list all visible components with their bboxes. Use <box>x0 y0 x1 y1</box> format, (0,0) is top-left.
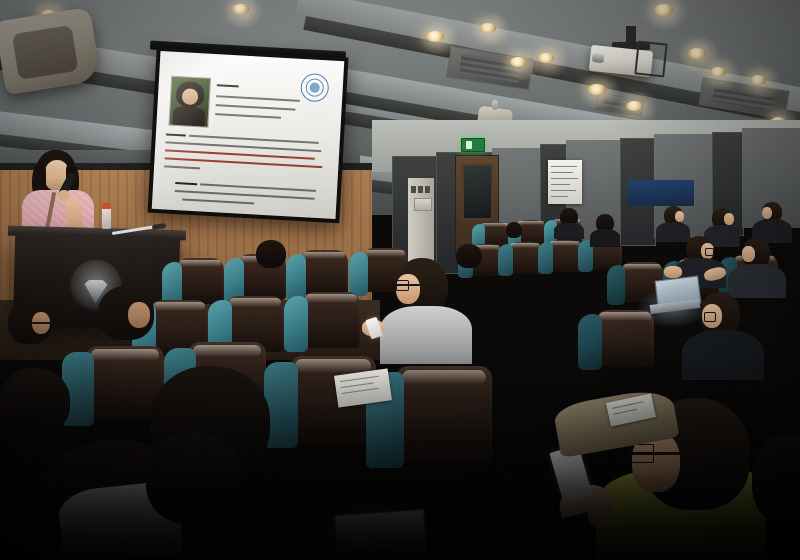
lecture-hall-photo <box>0 0 800 560</box>
attendee-phone-center <box>396 258 448 314</box>
wall-speaker-grille <box>12 25 78 80</box>
attendee-right-phone <box>700 292 740 336</box>
downlight-6 <box>480 23 496 33</box>
attendee-back-4 <box>712 208 732 228</box>
seat-row-c-3 <box>300 250 348 296</box>
water-bottle <box>102 207 111 229</box>
downlight-8 <box>538 53 554 63</box>
attendee-right-reaching <box>742 238 770 268</box>
exit-sign-icon <box>461 138 485 152</box>
projection-screen <box>152 51 345 219</box>
glasses-icon <box>32 322 52 324</box>
water-bottle-cap <box>102 203 111 209</box>
ceiling-speaker-stem <box>492 100 498 110</box>
wall-blue-glow <box>628 180 694 206</box>
attendee-left-glasses <box>8 300 52 344</box>
door-window <box>462 164 493 220</box>
presenter-hand <box>58 190 70 201</box>
light-switch-plate[interactable] <box>414 198 432 211</box>
wall-notice-poster <box>548 160 582 204</box>
seat-row-b-3 <box>548 240 582 272</box>
attendee-back-5 <box>762 202 782 222</box>
projector-cage <box>634 41 667 78</box>
projector-lens <box>592 53 605 63</box>
downlight-9 <box>588 84 606 95</box>
attendee-back-6 <box>506 222 522 238</box>
projection-screen-frame <box>148 47 349 223</box>
attendee-center-back-2 <box>456 244 482 268</box>
attendee-laptop-right <box>686 236 712 262</box>
downlight-7 <box>510 57 526 67</box>
attendee-back-3 <box>664 206 683 225</box>
seat-row-c-1 <box>176 258 224 304</box>
downlight-10 <box>626 101 643 111</box>
attendee-back-2 <box>596 214 614 232</box>
attendee-left-2 <box>98 286 154 340</box>
downlight-13 <box>710 67 726 77</box>
downlight-3 <box>232 4 249 14</box>
downlight-5 <box>426 31 444 42</box>
seat-row-b-2 <box>508 242 542 274</box>
attendee-back-1 <box>560 208 578 226</box>
attendee-left-3 <box>0 368 70 434</box>
downlight-12 <box>688 48 706 59</box>
glasses-icon <box>704 312 716 322</box>
seat-row-e-4 <box>396 366 492 462</box>
seat-row-d-3 <box>302 292 360 348</box>
attendee-center-back-1 <box>256 240 286 268</box>
downlight-14 <box>750 75 766 85</box>
downlight-11 <box>654 4 673 16</box>
glasses-icon <box>705 248 714 256</box>
